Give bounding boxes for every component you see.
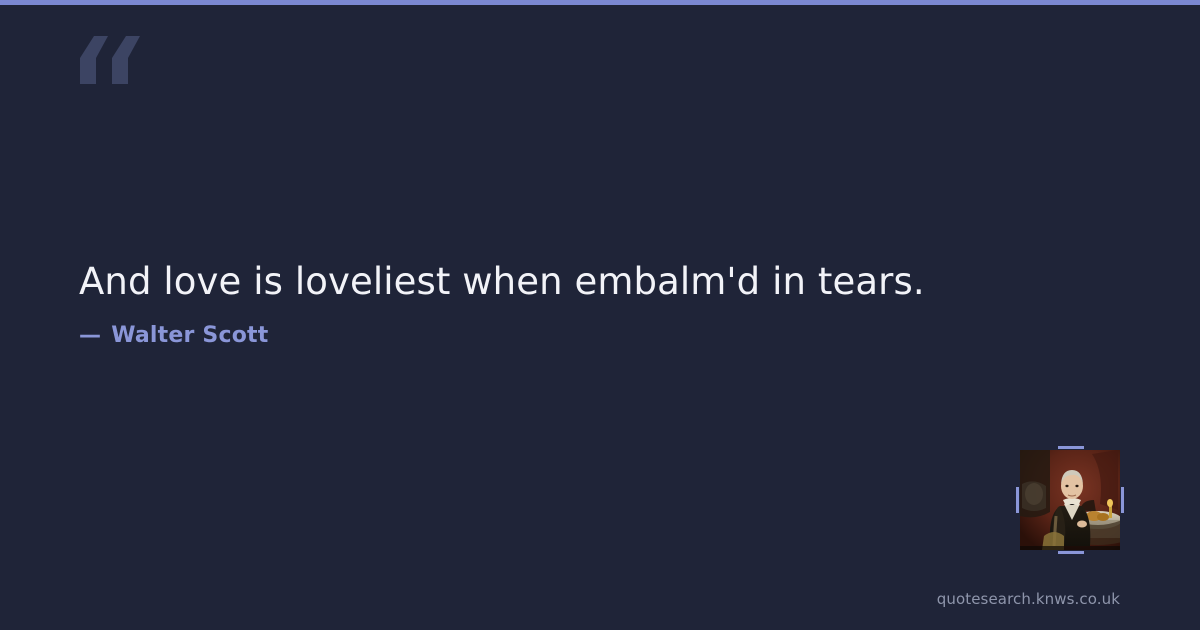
- author-name: Walter Scott: [111, 323, 268, 348]
- attribution-dash: —: [79, 323, 101, 348]
- portrait-frame-tick-left: [1016, 487, 1019, 513]
- portrait-frame-tick-top: [1058, 446, 1084, 449]
- quote-card: And love is loveliest when embalm'd in t…: [0, 0, 1200, 630]
- opening-double-quote-icon: [78, 36, 144, 84]
- portrait-frame-tick-right: [1121, 487, 1124, 513]
- author-portrait-image: [1020, 450, 1120, 550]
- top-accent-bar: [0, 0, 1200, 5]
- source-url: quotesearch.knws.co.uk: [937, 590, 1120, 608]
- portrait-frame-tick-bottom: [1058, 551, 1084, 554]
- quote-text: And love is loveliest when embalm'd in t…: [79, 258, 1119, 305]
- author-portrait: [1020, 450, 1120, 550]
- quote-attribution: — Walter Scott: [79, 323, 268, 348]
